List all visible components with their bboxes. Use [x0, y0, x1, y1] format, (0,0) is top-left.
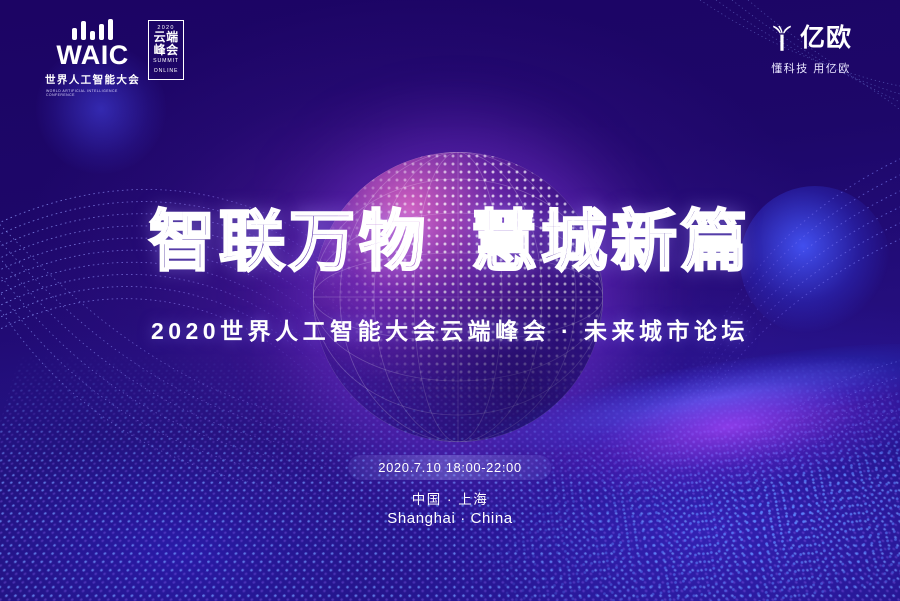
- partner-logo-row: 亿欧: [770, 24, 852, 52]
- waic-wordmark: WAIC: [56, 43, 129, 69]
- headline-part-2: 慧城新篇: [471, 204, 751, 278]
- waic-badge-en2: ONLINE: [154, 68, 179, 76]
- location-block: 中国 · 上海 Shanghai · China: [0, 488, 900, 527]
- headline-part-1: 智联万物: [149, 204, 429, 278]
- waic-primary-lockup: WAIC 世界人工智能大会 WORLD ARTIFICIAL INTELLIGE…: [44, 18, 141, 97]
- location-english: Shanghai · China: [0, 510, 900, 527]
- schedule-badge: 2020.7.10 18:00-22:00: [348, 455, 551, 480]
- waic-badge-en1: SUMMIT: [153, 58, 179, 66]
- waic-bars-icon: [72, 18, 113, 40]
- globe-graphic: [313, 152, 603, 442]
- location-chinese: 中国 · 上海: [0, 488, 900, 508]
- partner-logo: 亿欧 懂科技 用亿欧: [770, 24, 852, 76]
- page-title: 智联万物慧城新篇: [0, 208, 900, 274]
- waic-english-name: WORLD ARTIFICIAL INTELLIGENCE CONFERENCE: [46, 89, 139, 97]
- poster-canvas: WAIC 世界人工智能大会 WORLD ARTIFICIAL INTELLIGE…: [0, 0, 900, 601]
- partner-name: 亿欧: [800, 26, 852, 51]
- waic-chinese-name: 世界人工智能大会: [45, 72, 140, 87]
- globe-shadow: [313, 152, 603, 442]
- waic-badge-line1: 云端: [154, 31, 179, 44]
- waic-badge-line2: 峰会: [154, 44, 179, 57]
- waic-summit-badge: 2020 云端 峰会 SUMMIT ONLINE: [148, 20, 184, 80]
- partner-tagline: 懂科技 用亿欧: [770, 60, 852, 76]
- page-subtitle: 2020世界人工智能大会云端峰会 · 未来城市论坛: [0, 312, 900, 346]
- yiou-fountain-icon: [770, 24, 794, 52]
- waic-logo: WAIC 世界人工智能大会 WORLD ARTIFICIAL INTELLIGE…: [44, 18, 184, 97]
